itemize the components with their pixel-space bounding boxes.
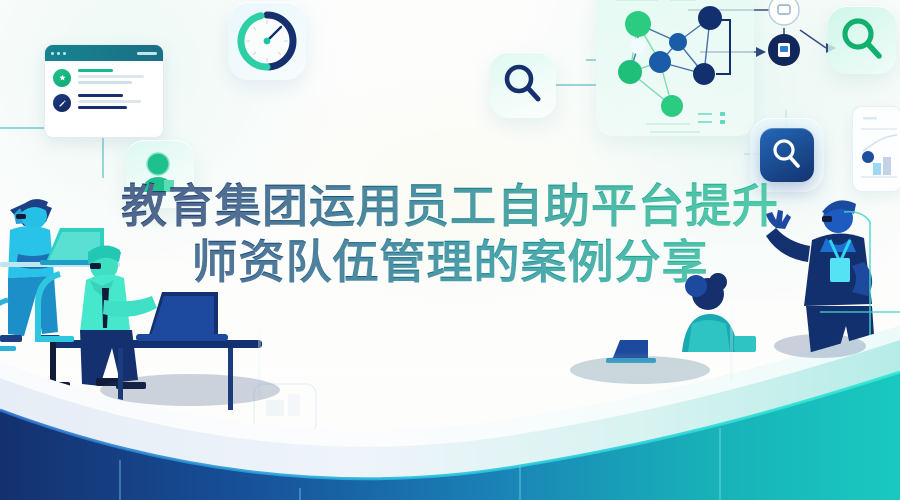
- browser-titlebar-accent: [137, 52, 157, 55]
- list-item: [53, 94, 155, 112]
- badge-icon: [53, 69, 71, 87]
- search-icon-mint-tile[interactable]: [490, 52, 556, 118]
- poster-canvas: 教育集团运用员工自助平台提升 师资队伍管理的案例分享: [0, 0, 900, 500]
- browser-body: [45, 61, 163, 125]
- edit-icon: [53, 94, 71, 112]
- list-item-lines: [78, 69, 155, 87]
- search-icon-blue-tile[interactable]: [760, 128, 814, 182]
- list-item-lines: [78, 94, 155, 112]
- list-item: [53, 69, 155, 87]
- clock-timer-icon: [234, 8, 300, 74]
- reception-counter: [0, 300, 900, 500]
- browser-titlebar: [45, 45, 163, 61]
- browser-dot: [57, 52, 60, 55]
- search-icon: [760, 128, 814, 182]
- network-graph: [600, 0, 750, 134]
- search-icon-green-tile[interactable]: [828, 6, 896, 74]
- browser-dot: [51, 52, 54, 55]
- browser-window-card[interactable]: [44, 44, 164, 138]
- search-icon: [490, 52, 556, 118]
- browser-dot: [63, 52, 66, 55]
- search-icon: [828, 6, 896, 74]
